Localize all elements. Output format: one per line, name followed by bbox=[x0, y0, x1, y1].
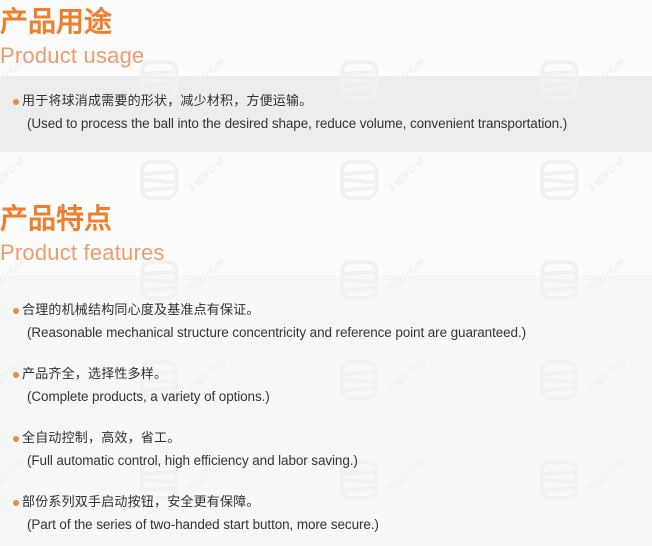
list-item: 部份系列双手启动按钮，安全更有保障。 (Part of the series o… bbox=[0, 494, 652, 534]
list-item: 产品齐全，选择性多样。 (Complete products, a variet… bbox=[0, 366, 652, 406]
list-item-english: (Reasonable mechanical structure concent… bbox=[22, 324, 652, 342]
list-item-english: (Part of the series of two-handed start … bbox=[22, 516, 652, 534]
section-heading-product-features: 产品特点 Product features bbox=[0, 205, 165, 264]
list-item: 全自动控制，高效，省工。 (Full automatic control, hi… bbox=[0, 430, 652, 470]
bullet-list-product-features: 合理的机械结构同心度及基准点有保证。 (Reasonable mechanica… bbox=[0, 302, 652, 534]
bullet-dot-icon bbox=[13, 308, 19, 314]
bullet-dot-icon bbox=[13, 500, 19, 506]
list-item-chinese: 部份系列双手启动按钮，安全更有保障。 bbox=[22, 494, 652, 511]
product-info-page: XMPGMXMPGMXMPGMXMPGMXMPGMXMPGMXMPGMXMPGM… bbox=[0, 0, 652, 546]
list-item-english: (Used to process the ball into the desir… bbox=[22, 115, 652, 133]
heading-english: Product features bbox=[0, 242, 165, 264]
list-item: 合理的机械结构同心度及基准点有保证。 (Reasonable mechanica… bbox=[0, 302, 652, 342]
heading-chinese: 产品特点 bbox=[0, 205, 165, 233]
heading-chinese: 产品用途 bbox=[0, 8, 144, 36]
list-item-english: (Complete products, a variety of options… bbox=[22, 388, 652, 406]
list-item-chinese: 产品齐全，选择性多样。 bbox=[22, 366, 652, 383]
heading-english: Product usage bbox=[0, 45, 144, 67]
list-item-chinese: 合理的机械结构同心度及基准点有保证。 bbox=[22, 302, 652, 319]
bullet-dot-icon bbox=[13, 436, 19, 442]
list-item-chinese: 全自动控制，高效，省工。 bbox=[22, 430, 652, 447]
bullet-dot-icon bbox=[13, 372, 19, 378]
section-heading-product-usage: 产品用途 Product usage bbox=[0, 8, 144, 67]
list-item: 用于将球消成需要的形状，减少材积，方便运输。 (Used to process … bbox=[0, 93, 652, 133]
bullet-list-product-usage: 用于将球消成需要的形状，减少材积，方便运输。 (Used to process … bbox=[0, 93, 652, 133]
list-item-english: (Full automatic control, high efficiency… bbox=[22, 452, 652, 470]
list-item-chinese: 用于将球消成需要的形状，减少材积，方便运输。 bbox=[22, 93, 652, 110]
bullet-dot-icon bbox=[13, 99, 19, 105]
